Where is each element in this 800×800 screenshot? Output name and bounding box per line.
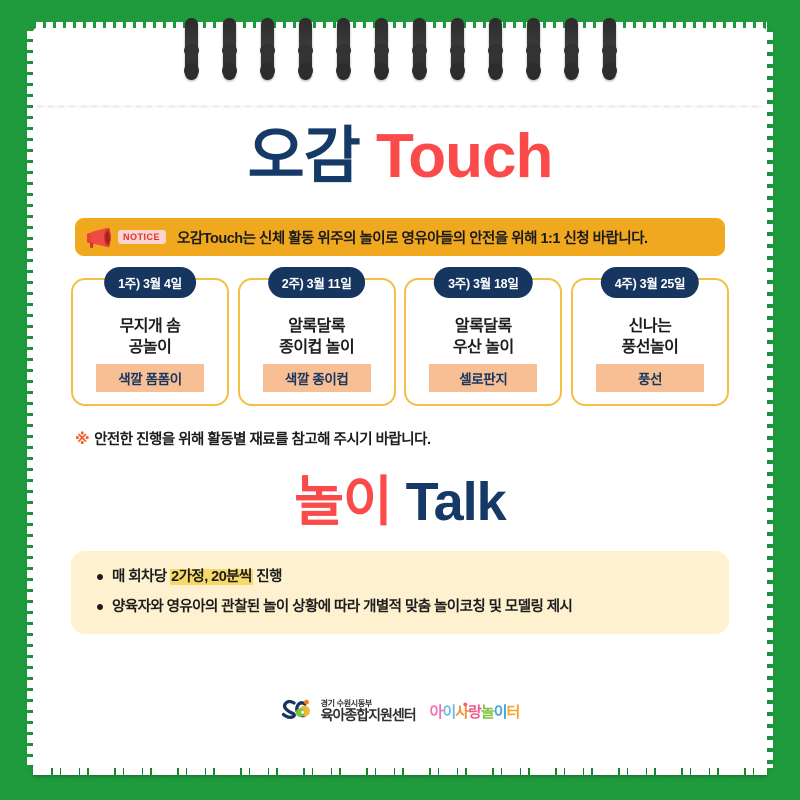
week-card[interactable]: 4주) 3월 25일 신나는 풍선놀이 풍선	[571, 278, 729, 406]
safety-note: ※ 안전한 진행을 위해 활동별 재료를 참고해 주시기 바랍니다.	[75, 428, 737, 449]
section-title-talk: 놀이 Talk	[63, 475, 737, 529]
reference-mark-icon: ※	[75, 430, 89, 448]
bullet-icon	[97, 574, 103, 580]
sc-logo-icon	[281, 697, 315, 726]
notice-badge: NOTICE	[118, 230, 166, 244]
talk-item-content: 매 회차당 2가정, 20분씩 진행	[112, 567, 282, 588]
talk-details-box: 매 회차당 2가정, 20분씩 진행 양육자와 영유아의 관찰된 놀이 상황에 …	[71, 551, 729, 634]
week-card-date-pill: 3주) 3월 18일	[434, 267, 532, 298]
week-card-title-line1: 알록달록	[453, 316, 514, 337]
week-card-title-line1: 알록달록	[279, 316, 354, 337]
week-card-date-pill: 4주) 3월 25일	[601, 267, 699, 298]
week-card-title-line2: 종이컵 놀이	[279, 337, 354, 358]
talk-item-prefix: 매 회차당	[112, 569, 170, 585]
list-item: 매 회차당 2가정, 20분씩 진행	[97, 567, 705, 588]
poster-content: 오감 Touch NOTICE 오감Touch는 신체 활동 위주의 놀이로 영…	[33, 28, 767, 768]
week-card-title: 알록달록 우산 놀이	[453, 310, 514, 364]
safety-note-text: 안전한 진행을 위해 활동별 재료를 참고해 주시기 바랍니다.	[94, 428, 430, 449]
week-card-title-line1: 무지개 솜	[120, 316, 181, 337]
page-title: 오감 Touch	[63, 126, 737, 188]
talk-title-korean: 놀이	[294, 472, 391, 532]
week-card-material-tag: 풍선	[596, 364, 704, 392]
talk-item-prefix: 양육자와 영유아의 관찰된 놀이 상황에 따라 개별적 맞춤 놀이코칭 및 모델…	[112, 599, 572, 615]
week-card[interactable]: 1주) 3월 4일 무지개 솜 공놀이 색깔 폼폼이	[71, 278, 229, 406]
week-card-title-line2: 풍선놀이	[622, 337, 679, 358]
talk-item-highlight: 2가정, 20분씩	[170, 569, 253, 585]
week-card-title-line2: 우산 놀이	[453, 337, 514, 358]
week-card-date-pill: 1주) 3월 4일	[104, 267, 196, 298]
notice-bar: NOTICE 오감Touch는 신체 활동 위주의 놀이로 영유아들의 안전을 …	[75, 218, 725, 256]
week-card-row: 1주) 3월 4일 무지개 솜 공놀이 색깔 폼폼이 2주) 3월 11일 알록…	[71, 278, 729, 406]
center-logo-text: 경기 수원시동부 육아종합지원센터	[321, 700, 416, 723]
week-card-title-line2: 공놀이	[120, 337, 181, 358]
week-card-date-pill: 2주) 3월 11일	[268, 267, 366, 298]
week-card[interactable]: 2주) 3월 11일 알록달록 종이컵 놀이 색깔 종이컵	[238, 278, 396, 406]
notice-text: 오감Touch는 신체 활동 위주의 놀이로 영유아들의 안전을 위해 1:1 …	[177, 227, 648, 248]
week-card[interactable]: 3주) 3월 18일 알록달록 우산 놀이 셀로판지	[404, 278, 562, 406]
page-title-english: Touch	[360, 122, 553, 191]
footer-logos: 경기 수원시동부 육아종합지원센터 아이사랑놀이터 ●	[33, 697, 767, 726]
week-card-title: 무지개 솜 공놀이	[120, 310, 181, 364]
week-card-material-tag: 색깔 폼폼이	[96, 364, 204, 392]
talk-title-english: Talk	[392, 472, 506, 532]
week-card-material-tag: 셀로판지	[429, 364, 537, 392]
center-logo-line2: 육아종합지원센터	[321, 708, 416, 723]
talk-item-content: 양육자와 영유아의 관찰된 놀이 상황에 따라 개별적 맞춤 놀이코칭 및 모델…	[112, 597, 572, 618]
playground-logo: 아이사랑놀이터 ●	[430, 701, 520, 722]
week-card-title: 신나는 풍선놀이	[622, 310, 679, 364]
week-card-title-line1: 신나는	[622, 316, 679, 337]
list-item: 양육자와 영유아의 관찰된 놀이 상황에 따라 개별적 맞춤 놀이코칭 및 모델…	[97, 597, 705, 618]
bullet-icon	[97, 604, 103, 610]
page-title-korean: 오감	[248, 122, 360, 191]
talk-item-suffix: 진행	[253, 569, 282, 585]
megaphone-icon	[85, 226, 115, 248]
week-card-title: 알록달록 종이컵 놀이	[279, 310, 354, 364]
week-card-material-tag: 색깔 종이컵	[263, 364, 371, 392]
center-logo: 경기 수원시동부 육아종합지원센터	[281, 697, 416, 726]
